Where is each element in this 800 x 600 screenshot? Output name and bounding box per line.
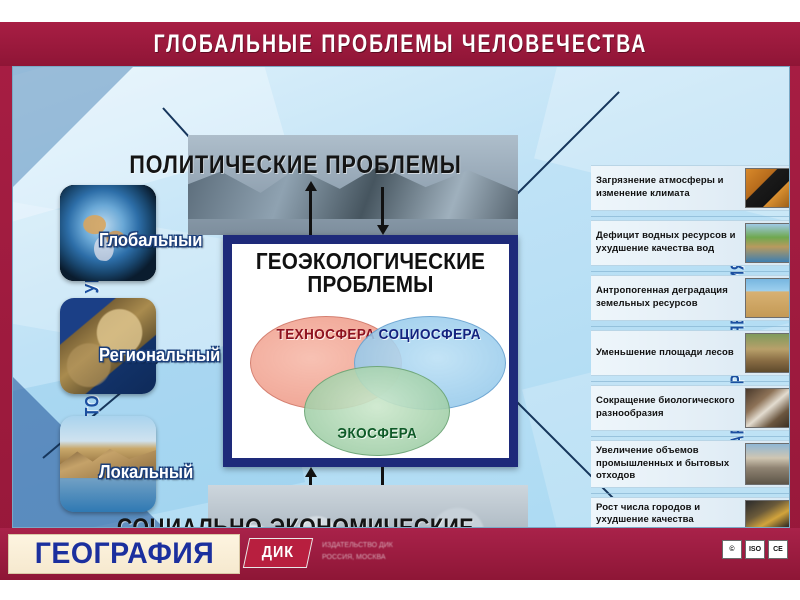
publisher-meta-line2: РОССИЯ, МОСКВА [322, 552, 582, 564]
badge-iso: ISO [745, 540, 765, 559]
publisher-logo-text: ДИК [262, 544, 294, 562]
main-panel: ТЕРРИТОРИАЛЬНЫЕ УРОВНИ ХАРАКТЕР ПРОЯВЛЕН… [12, 66, 790, 528]
publisher-logo: ДИК [243, 538, 313, 568]
badge-ce: CE [768, 540, 788, 559]
manifestation-thumbnail [745, 443, 790, 485]
center-title: ГЕОЭКОЛОГИЧЕСКИЕ ПРОБЛЕМЫ [246, 250, 495, 297]
list-divider [591, 271, 790, 272]
manifestation-thumbnail [745, 278, 790, 318]
badge-copyright: © [722, 540, 742, 559]
list-divider [591, 436, 790, 437]
venn-diagram: ТЕХНОСФЕРА СОЦИОСФЕРА ЭКОСФЕРА [232, 316, 509, 456]
title-banner: ГЛОБАЛЬНЫЕ ПРОБЛЕМЫ ЧЕЛОВЕЧЕСТВА [0, 22, 800, 66]
brand-plate: ГЕОГРАФИЯ [8, 534, 240, 574]
heading-political: ПОЛИТИЧЕСКИЕ ПРОБЛЕМЫ [53, 151, 539, 180]
arrow-down-head [377, 225, 389, 235]
bottom-white-strip [0, 580, 800, 600]
manifestation-thumbnail [745, 333, 790, 373]
venn-circle-ecosphere[interactable]: ЭКОСФЕРА [304, 366, 450, 456]
poster-root: ГЛОБАЛЬНЫЕ ПРОБЛЕМЫ ЧЕЛОВЕЧЕСТВА ТЕРРИТО… [0, 0, 800, 600]
list-item[interactable]: Рост числа городов и ухудшение качества … [591, 497, 790, 528]
list-divider [591, 493, 790, 494]
manifestation-text: Увеличение объемов промышленных и бытовы… [591, 441, 745, 487]
list-item[interactable]: Загрязнение атмосферы и изменение климат… [591, 165, 790, 211]
venn-label-technosphere: ТЕХНОСФЕРА [277, 326, 376, 343]
list-item[interactable]: Увеличение объемов промышленных и бытовы… [591, 440, 790, 488]
level-label-regional: Региональный [99, 345, 220, 366]
publisher-meta-line1: ИЗДАТЕЛЬСТВО ДИК [322, 540, 582, 552]
list-divider [591, 216, 790, 217]
center-title-line2: ПРОБЛЕМЫ [246, 273, 495, 296]
arrow-up-shaft [309, 189, 312, 235]
brand-name: ГЕОГРАФИЯ [34, 537, 213, 571]
arrow-up-head-bottom [305, 467, 317, 477]
center-concept-box: ГЕОЭКОЛОГИЧЕСКИЕ ПРОБЛЕМЫ ТЕХНОСФЕРА СОЦ… [223, 235, 518, 467]
top-white-strip [0, 0, 800, 22]
list-item[interactable]: Сокращение биологического разнообразия [591, 385, 790, 431]
manifestation-thumbnail [745, 168, 790, 208]
manifestation-thumbnail [745, 500, 790, 528]
manifestations-list: Загрязнение атмосферы и изменение климат… [591, 165, 790, 528]
manifestation-text: Загрязнение атмосферы и изменение климат… [591, 166, 745, 210]
venn-label-ecosphere: ЭКОСФЕРА [337, 425, 417, 442]
list-item[interactable]: Дефицит водных ресурсов и ухудшение каче… [591, 220, 790, 266]
manifestation-text: Уменьшение площади лесов [591, 331, 745, 375]
arrow-up-head [305, 181, 317, 191]
list-item[interactable]: Уменьшение площади лесов [591, 330, 790, 376]
list-item[interactable]: Антропогенная деградация земельных ресур… [591, 275, 790, 321]
venn-label-sociosphere: СОЦИОСФЕРА [379, 326, 481, 343]
list-divider [591, 381, 790, 382]
certification-badges: © ISO CE [722, 540, 788, 559]
brand-bar: ГЕОГРАФИЯ ДИК ИЗДАТЕЛЬСТВО ДИК РОССИЯ, М… [0, 528, 800, 580]
arrow-down-shaft [381, 187, 384, 227]
level-label-global: Глобальный [99, 230, 202, 251]
manifestation-text: Антропогенная деградация земельных ресур… [591, 276, 745, 320]
level-label-local: Локальный [99, 462, 193, 483]
center-title-line1: ГЕОЭКОЛОГИЧЕСКИЕ [246, 250, 495, 273]
manifestation-text: Дефицит водных ресурсов и ухудшение каче… [591, 221, 745, 265]
manifestation-text: Рост числа городов и ухудшение качества … [591, 498, 745, 528]
manifestation-thumbnail [745, 388, 790, 428]
manifestation-thumbnail [745, 223, 790, 263]
poster-title: ГЛОБАЛЬНЫЕ ПРОБЛЕМЫ ЧЕЛОВЕЧЕСТВА [153, 30, 647, 59]
manifestation-text: Сокращение биологического разнообразия [591, 386, 745, 430]
list-divider [591, 326, 790, 327]
heading-socioeconomic-line1: СОЦИАЛЬНО-ЭКОНОМИЧЕСКИЕ [53, 514, 539, 528]
publisher-meta: ИЗДАТЕЛЬСТВО ДИК РОССИЯ, МОСКВА [322, 540, 582, 564]
top-photo-band [188, 135, 518, 235]
